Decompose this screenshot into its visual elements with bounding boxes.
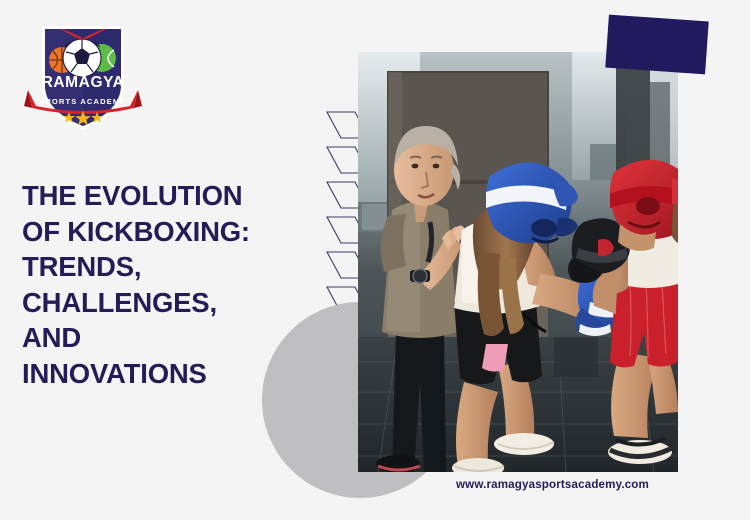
logo-brand-name: RAMAGYA	[42, 74, 125, 91]
promo-banner: RAMAGYA SPORTS ACADEMY THE EVOLUTION OF …	[0, 0, 750, 520]
logo-tagline: SPORTS ACADEMY	[40, 97, 127, 106]
kickboxing-sparring-photo	[358, 52, 678, 472]
soccer-ball-icon	[63, 39, 101, 77]
navy-rectangle-accent	[605, 15, 708, 75]
ramagya-logo[interactable]: RAMAGYA SPORTS ACADEMY	[22, 14, 144, 136]
website-url[interactable]: www.ramagyasportsacademy.com	[456, 478, 649, 491]
